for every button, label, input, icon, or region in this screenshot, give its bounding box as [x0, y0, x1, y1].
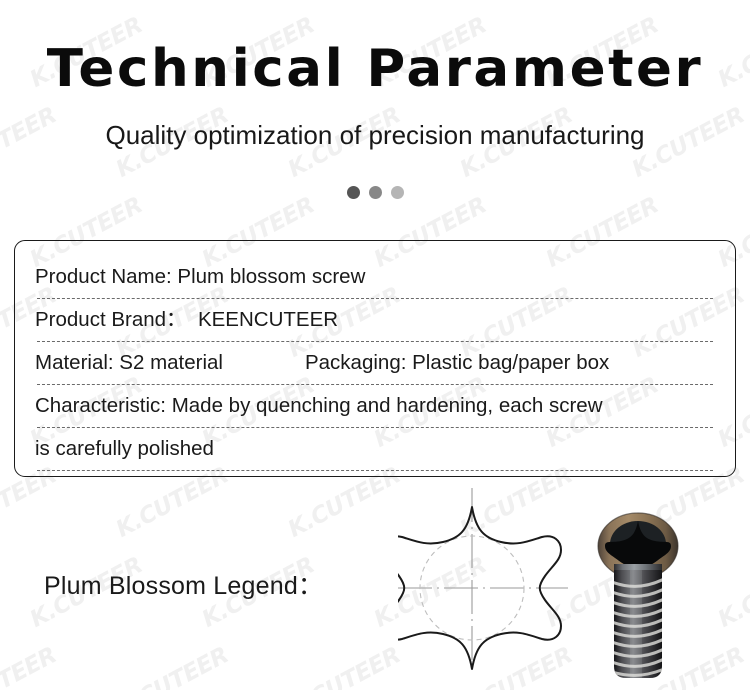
spec-row: Product Name: Plum blossom screw [35, 256, 715, 299]
spec-row: Characteristic: Made by quenching and ha… [35, 385, 715, 428]
page-subtitle: Quality optimization of precision manufa… [0, 120, 750, 151]
legend-label: Plum Blossom Legend： [44, 566, 323, 602]
spec-primary-text: Characteristic: Made by quenching and ha… [35, 396, 603, 417]
dot-3 [391, 186, 404, 199]
spec-secondary-text: Packaging: Plastic bag/paper box [305, 353, 609, 374]
dot-divider [0, 186, 750, 199]
spec-row-divider [37, 470, 713, 471]
spec-row: is carefully polished [35, 428, 715, 471]
shaft-highlight [630, 570, 642, 678]
spec-primary-text: Material: S2 material [35, 353, 223, 374]
spec-row: Product Brand： KEENCUTEER [35, 299, 715, 342]
dot-1 [347, 186, 360, 199]
spec-primary-text: Product Name: Plum blossom screw [35, 267, 365, 288]
spec-primary-text: is carefully polished [35, 439, 214, 460]
blossom-outline [398, 507, 561, 669]
technical-parameter-page: K.CUTEERK.CUTEERK.CUTEERK.CUTEERK.CUTEER… [0, 0, 750, 690]
spec-primary-text: Product Brand： KEENCUTEER [35, 310, 338, 331]
dot-2 [369, 186, 382, 199]
spec-row: Material: S2 materialPackaging: Plastic … [35, 342, 715, 385]
page-title: Technical Parameter [0, 43, 750, 95]
plum-blossom-profile-diagram [398, 478, 593, 678]
page-content: Technical Parameter Quality optimization… [0, 0, 750, 690]
specification-card: Product Name: Plum blossom screwProduct … [14, 240, 736, 477]
plum-blossom-screw-photo [592, 508, 684, 682]
